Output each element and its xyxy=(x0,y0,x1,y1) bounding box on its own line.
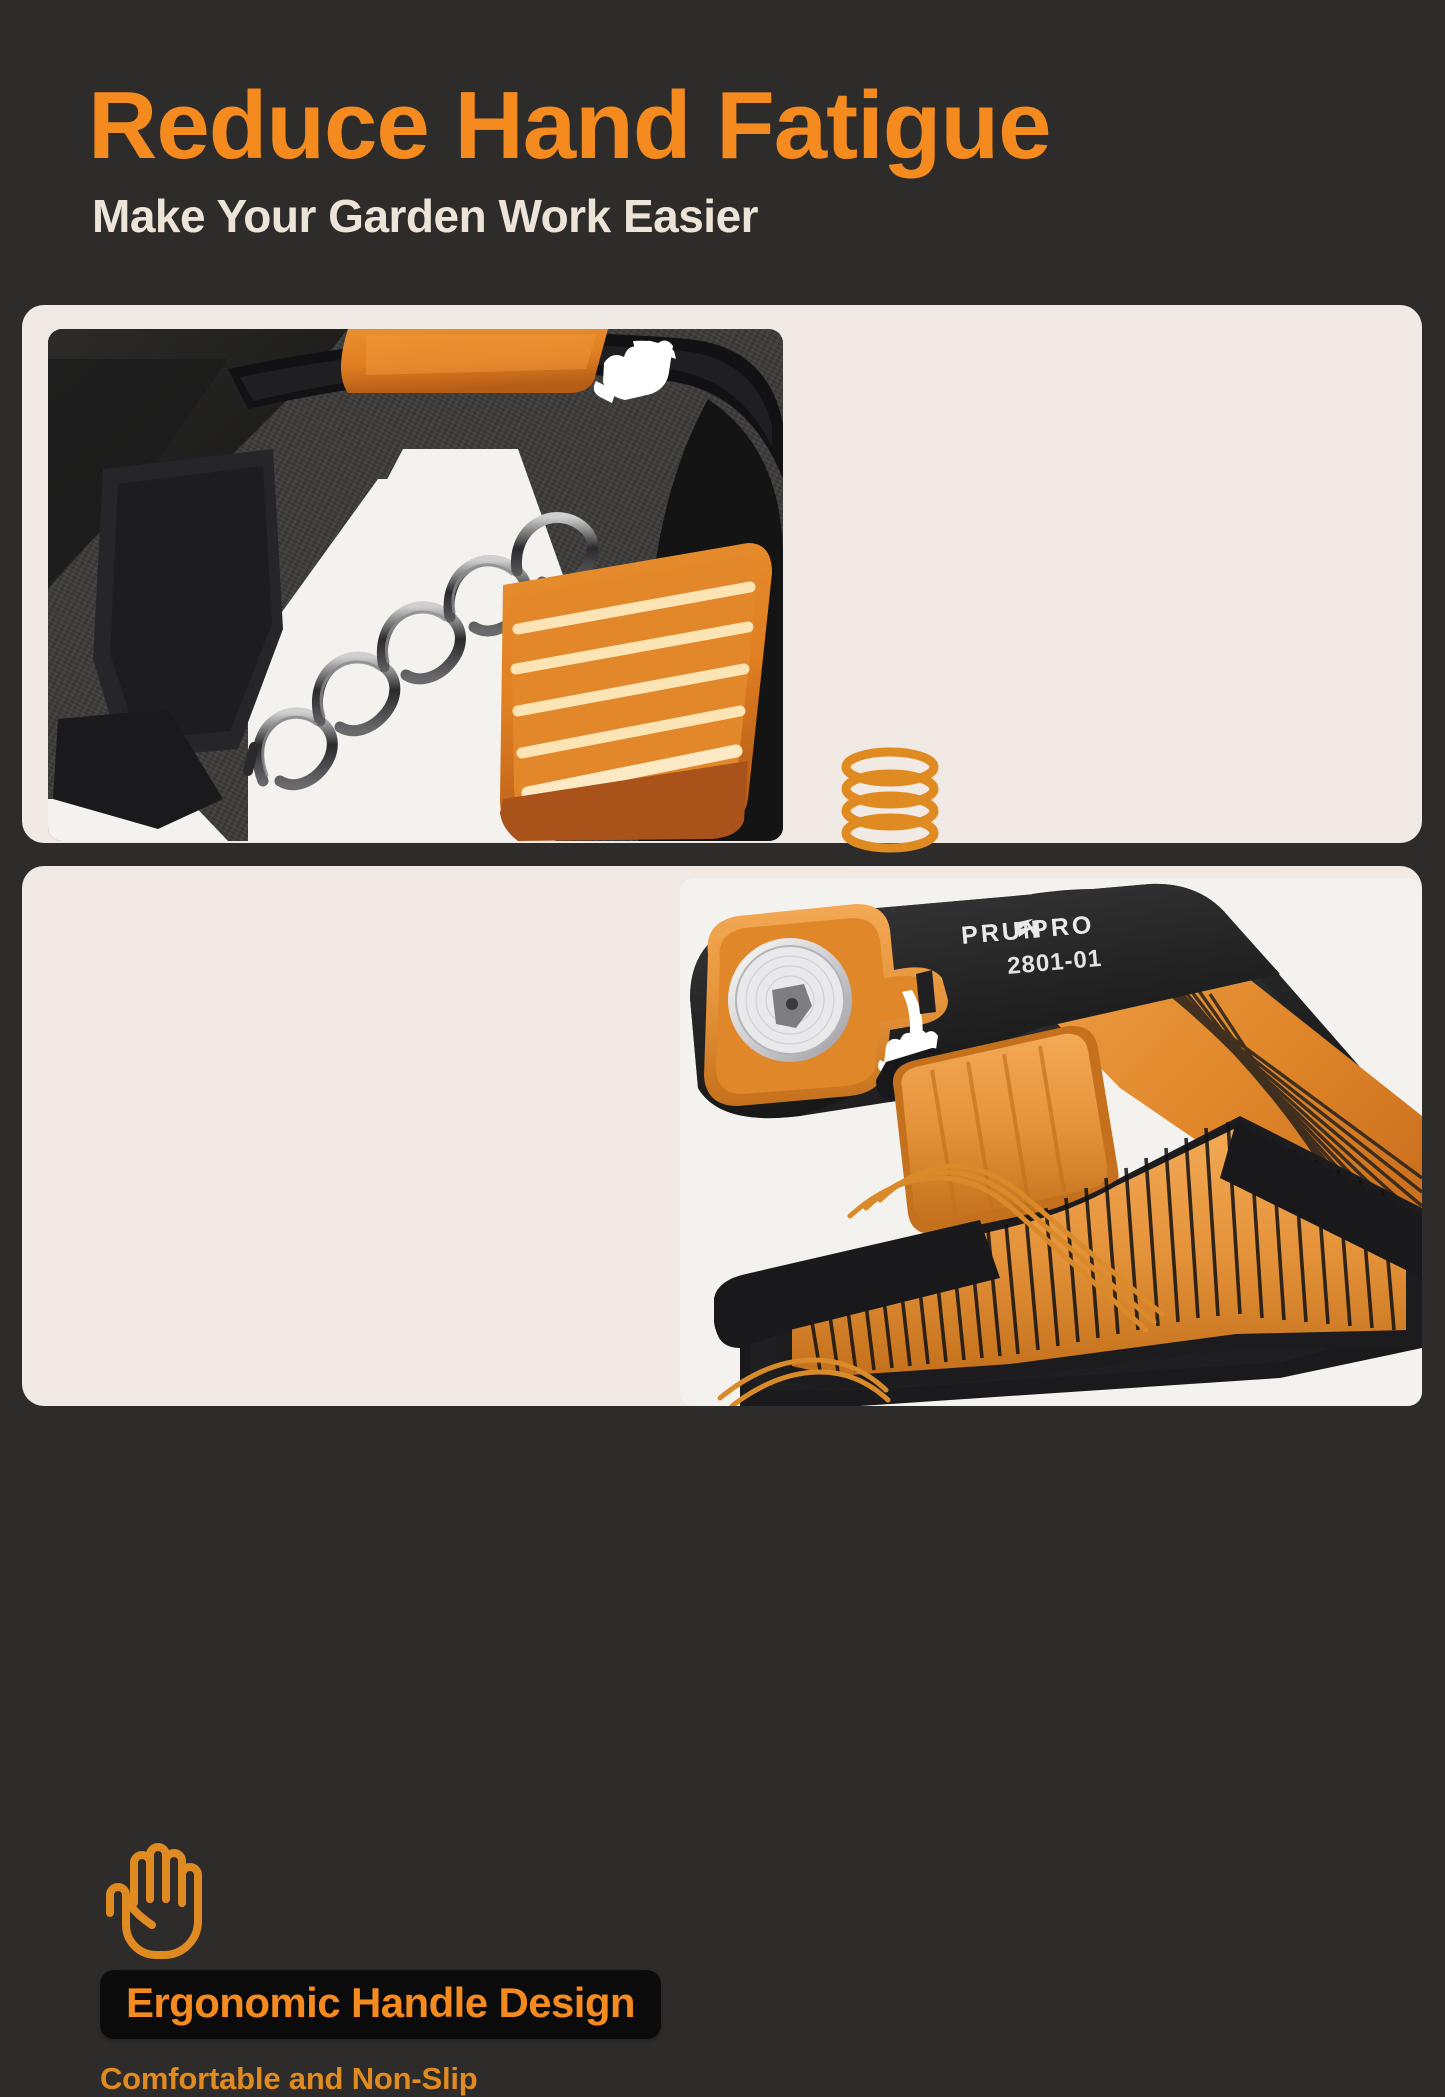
handle-photo-artwork: PRUN PRO 2801-01 xyxy=(680,878,1422,1406)
handle-product-photo: PRUN PRO 2801-01 xyxy=(680,878,1422,1406)
badge-handle-label: Ergonomic Handle Design xyxy=(126,1981,635,2025)
coil-spring-icon xyxy=(834,745,1334,868)
feature-panel-handle: Ergonomic Handle Design Comfortable and … xyxy=(22,866,1422,1406)
spring-photo-artwork xyxy=(48,329,783,841)
feature-block-handle: Ergonomic Handle Design Comfortable and … xyxy=(100,1841,660,2097)
page-title: Reduce Hand Fatigue xyxy=(88,78,1050,174)
spring-product-photo xyxy=(48,329,783,841)
caption-handle: Comfortable and Non-Slip xyxy=(100,2061,660,2097)
header-section: Reduce Hand Fatigue Make Your Garden Wor… xyxy=(0,0,1445,300)
feature-panel-spring: High Strength Spring Excellent Rebound P… xyxy=(22,305,1422,843)
page-subtitle: Make Your Garden Work Easier xyxy=(92,193,758,239)
badge-handle: Ergonomic Handle Design xyxy=(100,1970,661,2039)
svg-text:PRO: PRO xyxy=(1030,911,1095,944)
open-hand-icon xyxy=(100,1841,660,1970)
